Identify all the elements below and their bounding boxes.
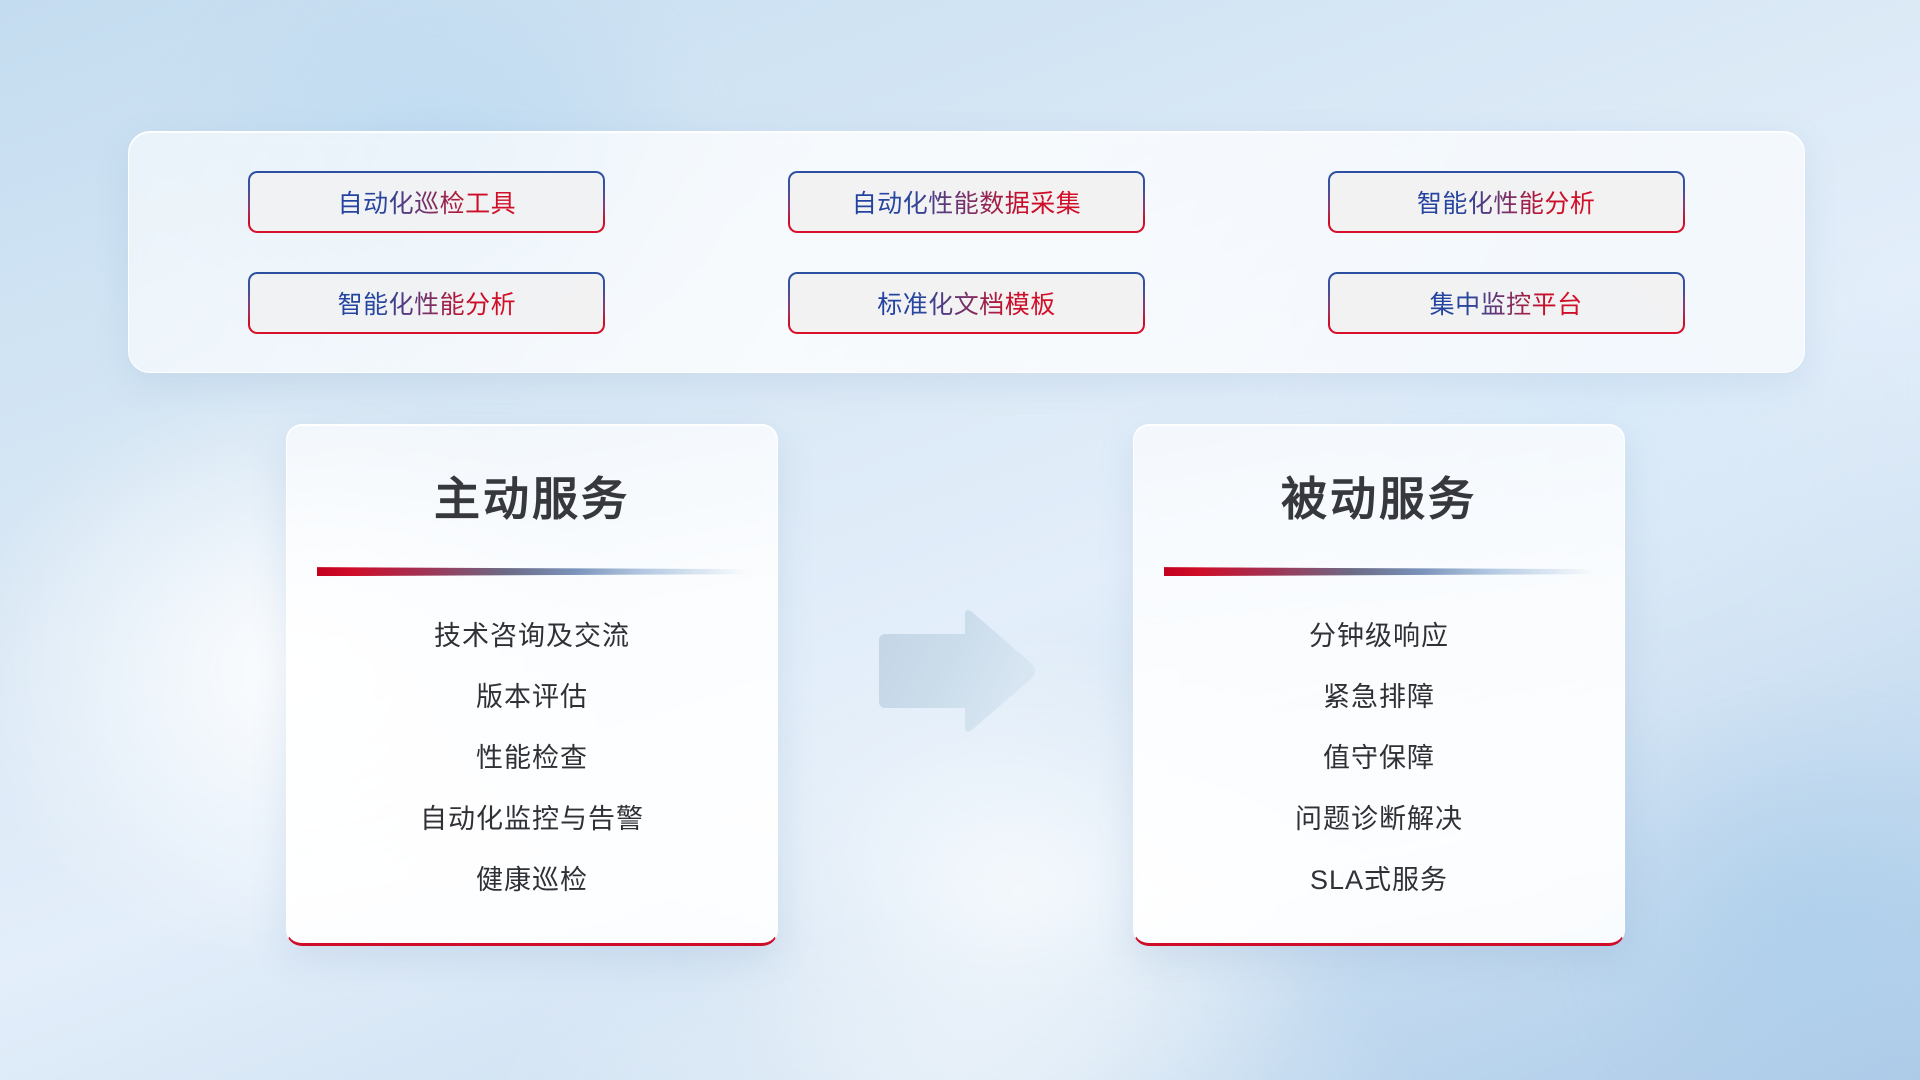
capability-tag-grid: 自动化巡检工具 自动化性能数据采集 智能化性能分析 智能化性能分析 标准化文档模…	[129, 171, 1804, 334]
title-underline-rule	[317, 567, 747, 576]
capability-tag-label: 自动化性能数据采集	[852, 184, 1082, 220]
capability-tag-label: 标准化文档模板	[877, 285, 1056, 321]
capability-tag[interactable]: 智能化性能分析	[248, 272, 605, 334]
list-item: 健康巡检	[287, 850, 777, 911]
capability-tag-label: 智能化性能分析	[1417, 184, 1596, 220]
capability-tag[interactable]: 自动化巡检工具	[248, 171, 605, 233]
title-underline-rule	[1164, 567, 1594, 576]
proactive-service-panel: 主动服务 技术咨询及交流 版本评估 性能检查 自动化监控与告警 健康巡检	[286, 424, 778, 946]
list-item: 技术咨询及交流	[287, 606, 777, 667]
infographic-canvas: 自动化巡检工具 自动化性能数据采集 智能化性能分析 智能化性能分析 标准化文档模…	[0, 0, 1920, 1080]
reactive-service-list: 分钟级响应 紧急排障 值守保障 问题诊断解决 SLA式服务	[1134, 606, 1624, 911]
capability-tag-label: 自动化巡检工具	[338, 184, 517, 220]
capability-tag[interactable]: 自动化性能数据采集	[788, 171, 1145, 233]
list-item: 版本评估	[287, 667, 777, 728]
list-item: 自动化监控与告警	[287, 789, 777, 850]
capability-tags-panel: 自动化巡检工具 自动化性能数据采集 智能化性能分析 智能化性能分析 标准化文档模…	[128, 131, 1805, 373]
list-item: 性能检查	[287, 728, 777, 789]
proactive-panel-title: 主动服务	[287, 463, 777, 529]
list-item: 值守保障	[1134, 728, 1624, 789]
capability-tag-label: 集中监控平台	[1430, 285, 1583, 321]
capability-tag-label: 智能化性能分析	[338, 285, 517, 321]
capability-tag[interactable]: 智能化性能分析	[1328, 171, 1685, 233]
capability-tag[interactable]: 标准化文档模板	[788, 272, 1145, 334]
capability-tag[interactable]: 集中监控平台	[1328, 272, 1685, 334]
list-item: SLA式服务	[1134, 850, 1624, 911]
list-item: 分钟级响应	[1134, 606, 1624, 667]
reactive-panel-title: 被动服务	[1134, 463, 1624, 529]
list-item: 问题诊断解决	[1134, 789, 1624, 850]
arrow-right-icon	[869, 608, 1039, 734]
proactive-service-list: 技术咨询及交流 版本评估 性能检查 自动化监控与告警 健康巡检	[287, 606, 777, 911]
list-item: 紧急排障	[1134, 667, 1624, 728]
reactive-service-panel: 被动服务 分钟级响应 紧急排障 值守保障 问题诊断解决 SLA式服务	[1133, 424, 1625, 946]
